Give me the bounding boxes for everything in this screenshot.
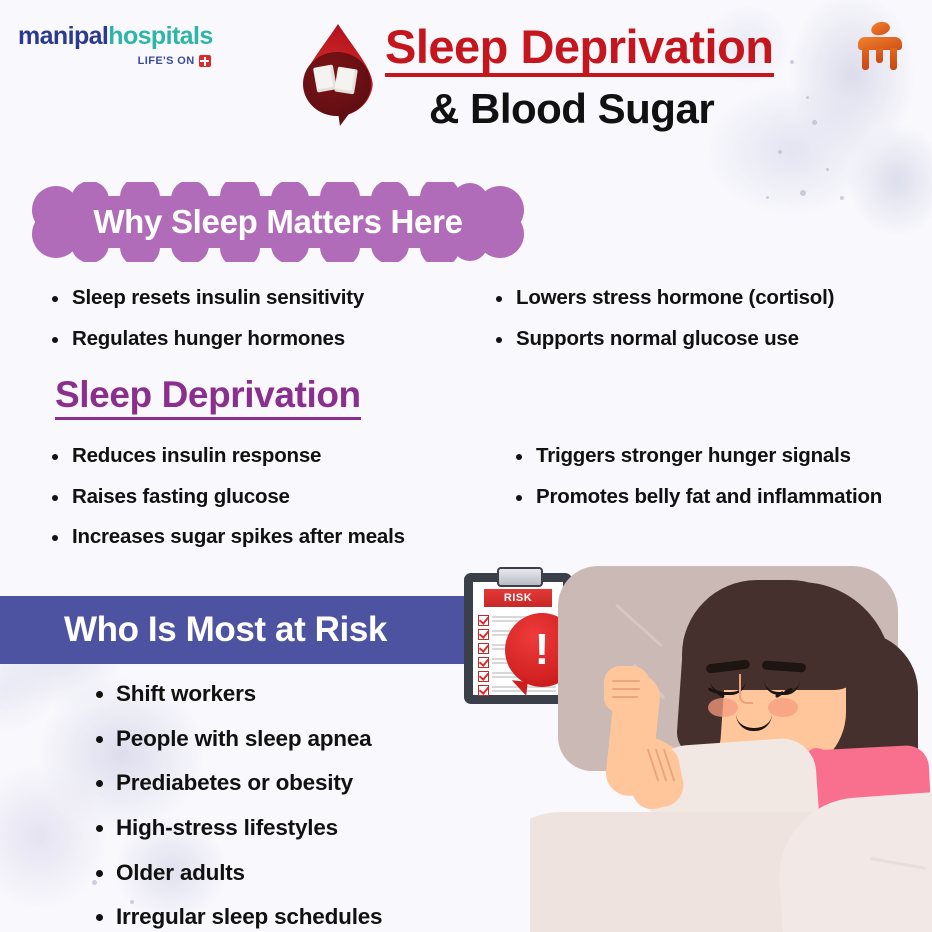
blood-drop-sugar-icon	[281, 24, 391, 139]
speck	[826, 168, 829, 171]
why-sleep-list-left: Sleep resets insulin sensitivity Regulat…	[48, 288, 468, 369]
speck	[812, 120, 817, 125]
list-item: Prediabetes or obesity	[92, 771, 512, 795]
why-sleep-matters-label: Why Sleep Matters Here	[30, 182, 526, 262]
why-sleep-list-right: Lowers stress hormone (cortisol) Support…	[492, 288, 922, 369]
sugar-cube-left	[313, 64, 337, 92]
list-item: Lowers stress hormone (cortisol)	[492, 288, 922, 309]
risk-group-list: Shift workers People with sleep apnea Pr…	[92, 682, 512, 932]
brand-tagline: LIFE'S ON	[138, 55, 195, 67]
list-item: Promotes belly fat and inflammation	[512, 487, 922, 508]
brand-logo: manipalhospitals LIFE'S ON	[18, 24, 213, 67]
speck	[806, 96, 809, 99]
table-icon	[856, 22, 904, 70]
speck	[800, 190, 806, 196]
list-item: People with sleep apnea	[92, 727, 512, 751]
sleeping-woman-illustration	[530, 562, 932, 932]
list-item: Supports normal glucose use	[492, 329, 922, 350]
speck	[840, 196, 844, 200]
list-item: High-stress lifestyles	[92, 816, 512, 840]
brand-name-part2: hospitals	[108, 22, 212, 50]
list-item: Triggers stronger hunger signals	[512, 446, 922, 467]
list-item: Sleep resets insulin sensitivity	[48, 288, 468, 309]
infographic-canvas: manipalhospitals LIFE'S ON Sleep Depriva…	[0, 0, 932, 932]
brand-name-part1: manipal	[18, 22, 108, 50]
who-is-most-at-risk-label: Who Is Most at Risk	[64, 596, 387, 664]
list-item: Regulates hunger hormones	[48, 329, 468, 350]
medical-cross-icon	[199, 55, 211, 67]
brand-tagline-row: LIFE'S ON	[18, 55, 211, 67]
page-subtitle: & Blood Sugar	[429, 86, 714, 132]
sleep-deprivation-list-right: Triggers stronger hunger signals Promote…	[512, 446, 922, 527]
sleep-deprivation-list-left: Reduces insulin response Raises fasting …	[48, 446, 478, 568]
list-item: Shift workers	[92, 682, 512, 706]
list-item: Increases sugar spikes after meals	[48, 527, 478, 548]
page-title: Sleep Deprivation	[385, 22, 774, 77]
sleep-deprivation-heading: Sleep Deprivation	[55, 375, 361, 420]
speck	[778, 150, 782, 154]
list-item: Irregular sleep schedules	[92, 905, 512, 929]
why-sleep-matters-banner: Why Sleep Matters Here	[30, 182, 526, 262]
brand-name: manipalhospitals	[18, 24, 213, 49]
speck	[766, 196, 769, 199]
list-item: Older adults	[92, 861, 512, 885]
sugar-cube-right	[334, 67, 358, 95]
speck	[790, 60, 794, 64]
list-item: Reduces insulin response	[48, 446, 478, 467]
list-item: Raises fasting glucose	[48, 487, 478, 508]
who-is-most-at-risk-banner: Who Is Most at Risk	[0, 596, 520, 664]
